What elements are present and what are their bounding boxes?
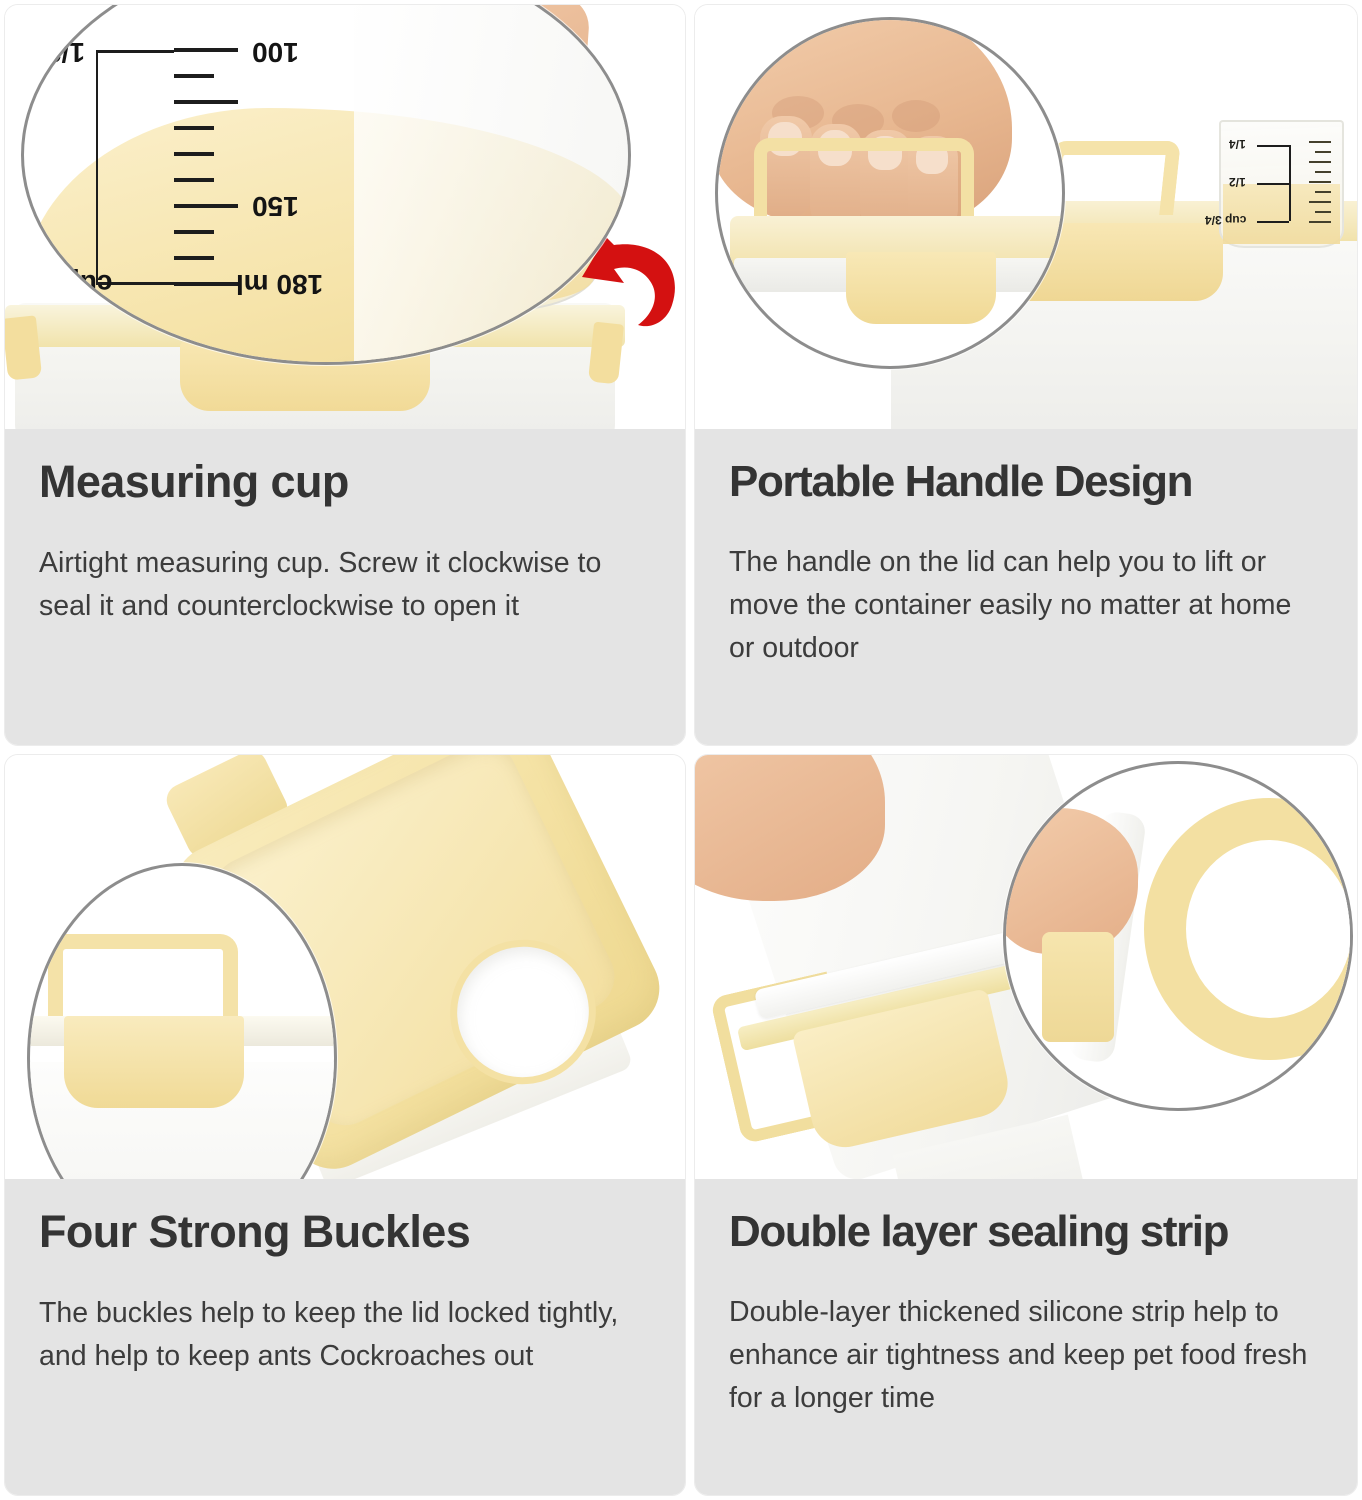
zoom-buckle-tab [1042,932,1114,1042]
feature-grid: 50 100 150 180 ml 1/4 1/2 cup 3/4 [0,0,1362,1500]
cup-fraction-threequarter: cup 3/4 [1205,213,1246,227]
caption-portable-handle: Portable Handle Design The handle on the… [695,429,1357,745]
caption-four-strong-buckles: Four Strong Buckles The buckles help to … [5,1179,685,1495]
panel-body: The handle on the lid can help you to li… [729,541,1323,671]
magnifier-sealing-strip [1003,761,1353,1111]
panel-heading: Four Strong Buckles [39,1209,651,1256]
caption-measuring-cup: Measuring cup Airtight measuring cup. Sc… [5,429,685,745]
zoom-label-150: 150 [252,190,299,222]
zoom-lid-rim [1144,798,1353,1060]
feature-panel-portable-handle: 1/4 1/2 cup 3/4 [690,0,1362,750]
photo-portable-handle: 1/4 1/2 cup 3/4 [695,5,1357,429]
cup-fraction-half: 1/2 [1229,175,1246,189]
panel-body: Airtight measuring cup. Screw it clockwi… [39,542,639,629]
zoom-scale-markings: 100 150 180 ml 1/2 cup 3/4 [174,48,404,298]
photo-double-layer-sealing-strip [695,755,1357,1179]
zoom-handle-bar [754,138,974,224]
feature-panel-four-strong-buckles: Four Strong Buckles The buckles help to … [0,750,690,1500]
zoom-label-180ml: 180 ml [236,268,323,300]
magnifier-handle-grip [715,17,1065,369]
photo-four-strong-buckles [5,755,685,1179]
zoom-buckle [64,1016,244,1108]
cup-scale-markings: 1/4 1/2 cup 3/4 [1231,137,1339,231]
feature-panel-measuring-cup: 50 100 150 180 ml 1/4 1/2 cup 3/4 [0,0,690,750]
panel-body: The buckles help to keep the lid locked … [39,1292,639,1379]
panel-heading: Portable Handle Design [729,459,1323,505]
zoom-fraction-half: 1/2 [46,36,85,68]
zoom-fraction-threequarter: cup 3/4 [21,268,112,300]
caption-double-layer-sealing-strip: Double layer sealing strip Double-layer … [695,1179,1357,1495]
photo-measuring-cup: 50 100 150 180 ml 1/4 1/2 cup 3/4 [5,5,685,429]
zoom-label-100: 100 [252,36,299,68]
panel-heading: Measuring cup [39,459,651,506]
feature-panel-double-layer-sealing-strip: Double layer sealing strip Double-layer … [690,750,1362,1500]
panel-heading: Double layer sealing strip [729,1209,1323,1255]
zoom-handle-bar [48,934,238,1022]
magnifier-measuring-scale: 100 150 180 ml 1/2 cup 3/4 [21,5,631,365]
zoom-buckle [846,252,996,324]
panel-body: Double-layer thickened silicone strip he… [729,1291,1323,1421]
cup-fraction-quarter: 1/4 [1229,137,1246,151]
